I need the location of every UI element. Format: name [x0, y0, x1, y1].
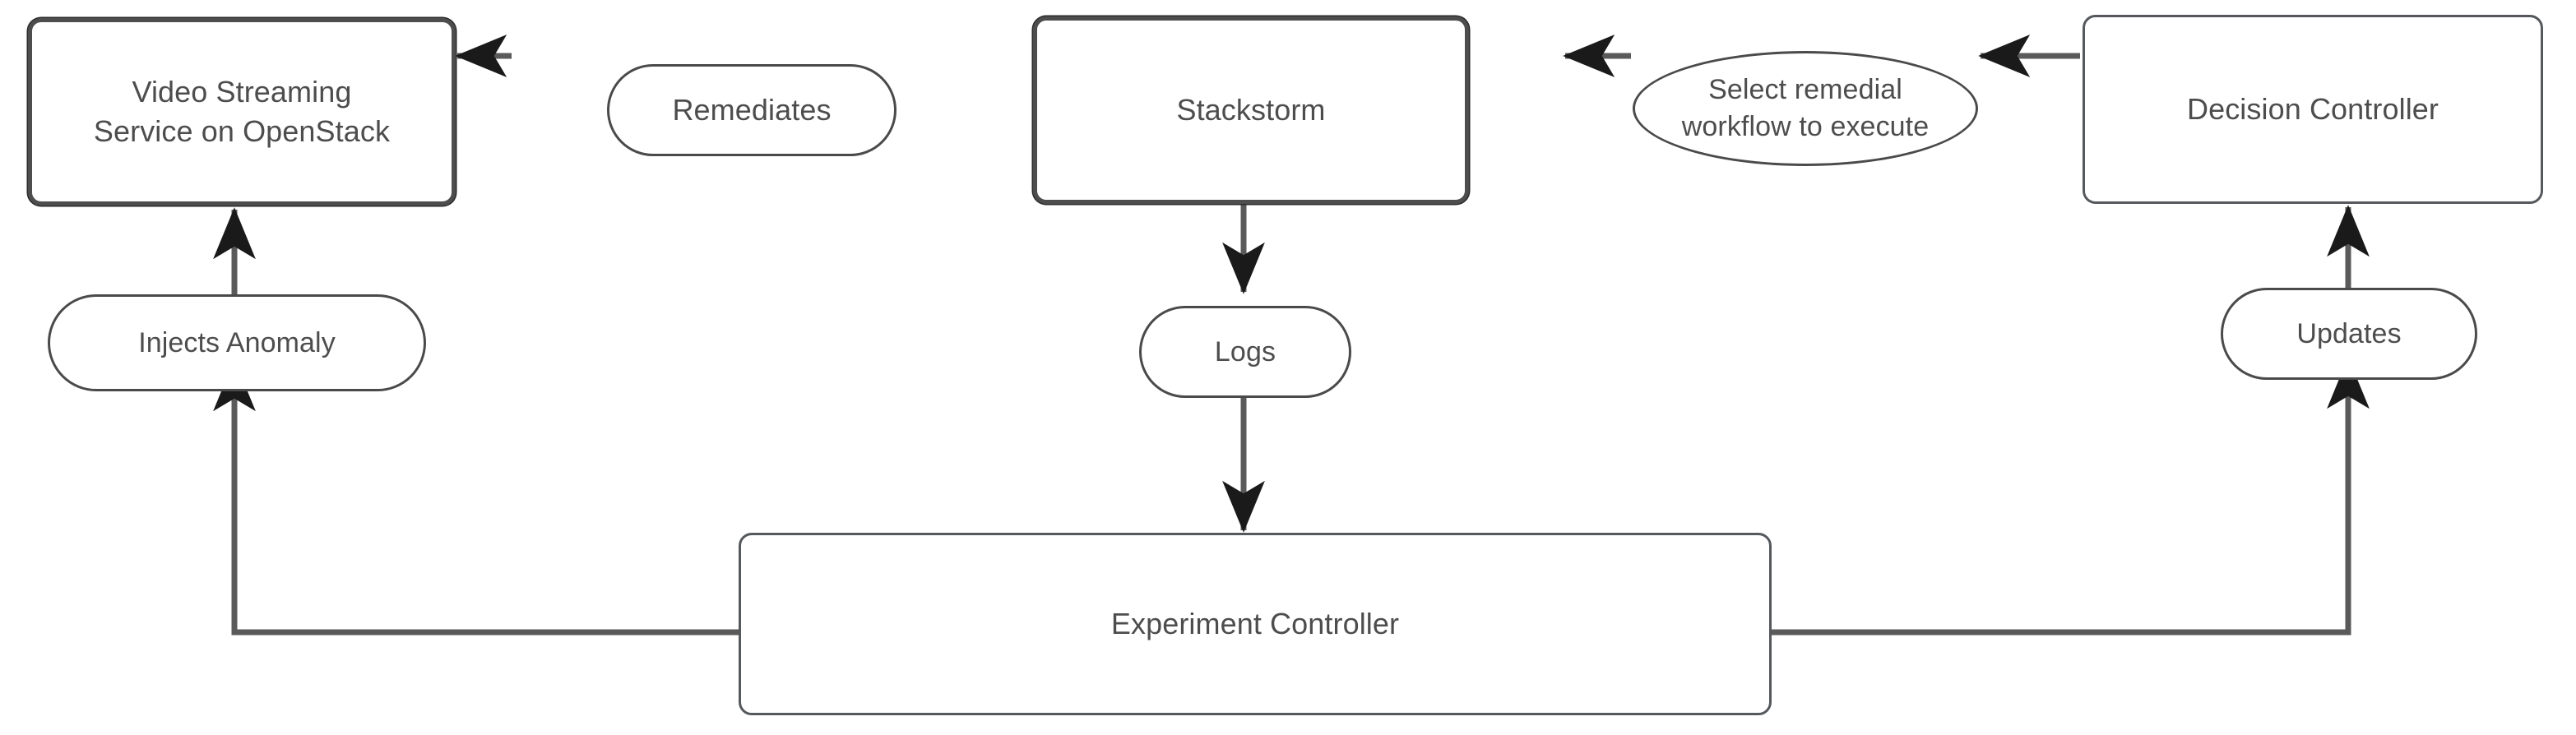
edge-experiment-controller-to-injects-anomaly-routing — [234, 386, 740, 632]
node-label-decision-controller: Decision Controller — [2187, 90, 2439, 129]
node-label-remediates: Remediates — [672, 90, 831, 130]
node-label-updates: Updates — [2296, 316, 2401, 353]
node-label-video-streaming-service: Video Streaming Service on OpenStack — [94, 72, 390, 150]
node-label-select-remedial-workflow: Select remedial workflow to execute — [1682, 72, 1929, 146]
node-experiment-controller[interactable]: Experiment Controller — [739, 533, 1772, 715]
node-logs[interactable]: Logs — [1139, 306, 1351, 398]
node-injects-anomaly[interactable]: Injects Anomaly — [48, 294, 426, 391]
node-updates[interactable]: Updates — [2221, 288, 2477, 380]
node-label-logs: Logs — [1215, 334, 1276, 371]
flowchart-canvas: Video Streaming Service on OpenStack Rem… — [0, 0, 2576, 735]
node-label-experiment-controller: Experiment Controller — [1111, 604, 1399, 644]
node-label-stackstorm: Stackstorm — [1176, 90, 1325, 130]
node-label-injects-anomaly: Injects Anomaly — [138, 325, 336, 362]
edge-experiment-controller-to-updates-routing — [1770, 386, 2348, 632]
node-video-streaming-service[interactable]: Video Streaming Service on OpenStack — [28, 18, 456, 206]
node-remediates[interactable]: Remediates — [607, 64, 897, 156]
node-select-remedial-workflow[interactable]: Select remedial workflow to execute — [1633, 51, 1978, 166]
node-stackstorm[interactable]: Stackstorm — [1033, 16, 1469, 204]
node-decision-controller[interactable]: Decision Controller — [2083, 15, 2543, 204]
